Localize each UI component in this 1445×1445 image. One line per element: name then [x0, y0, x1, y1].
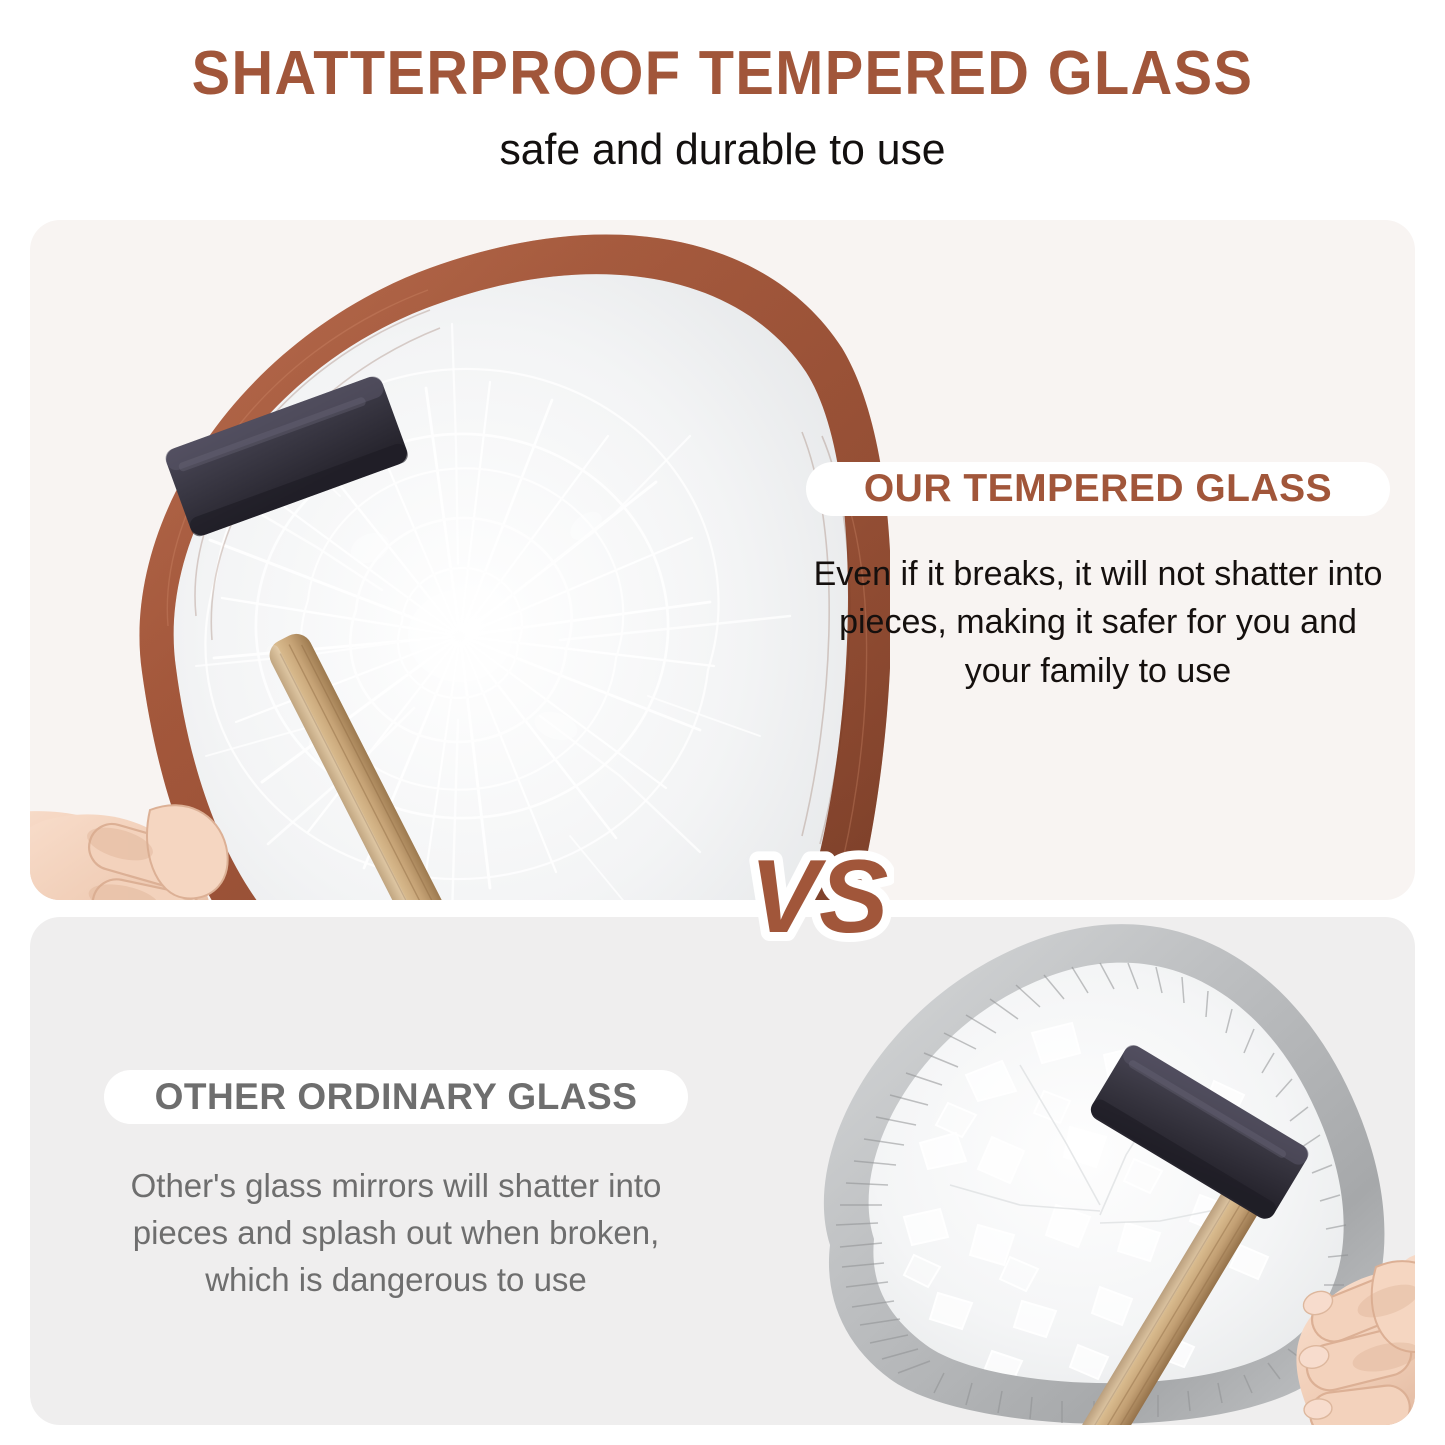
page-title: SHATTERPROOF TEMPERED GLASS — [51, 38, 1395, 109]
vs-label: VS — [750, 839, 889, 955]
infographic-root: SHATTERPROOF TEMPERED GLASS safe and dur… — [0, 0, 1445, 1445]
other-ordinary-glass-description: Other's glass mirrors will shatter into … — [104, 1163, 688, 1304]
status-badge-other-ordinary-glass: OTHER ORDINARY GLASS — [104, 1070, 688, 1124]
page-subtitle: safe and durable to use — [22, 125, 1424, 175]
vs-divider-badge: VS VS — [744, 836, 894, 961]
status-badge-our-tempered-glass: OUR TEMPERED GLASS — [806, 462, 1390, 516]
our-tempered-glass-description: Even if it breaks, it will not shatter i… — [806, 550, 1390, 695]
